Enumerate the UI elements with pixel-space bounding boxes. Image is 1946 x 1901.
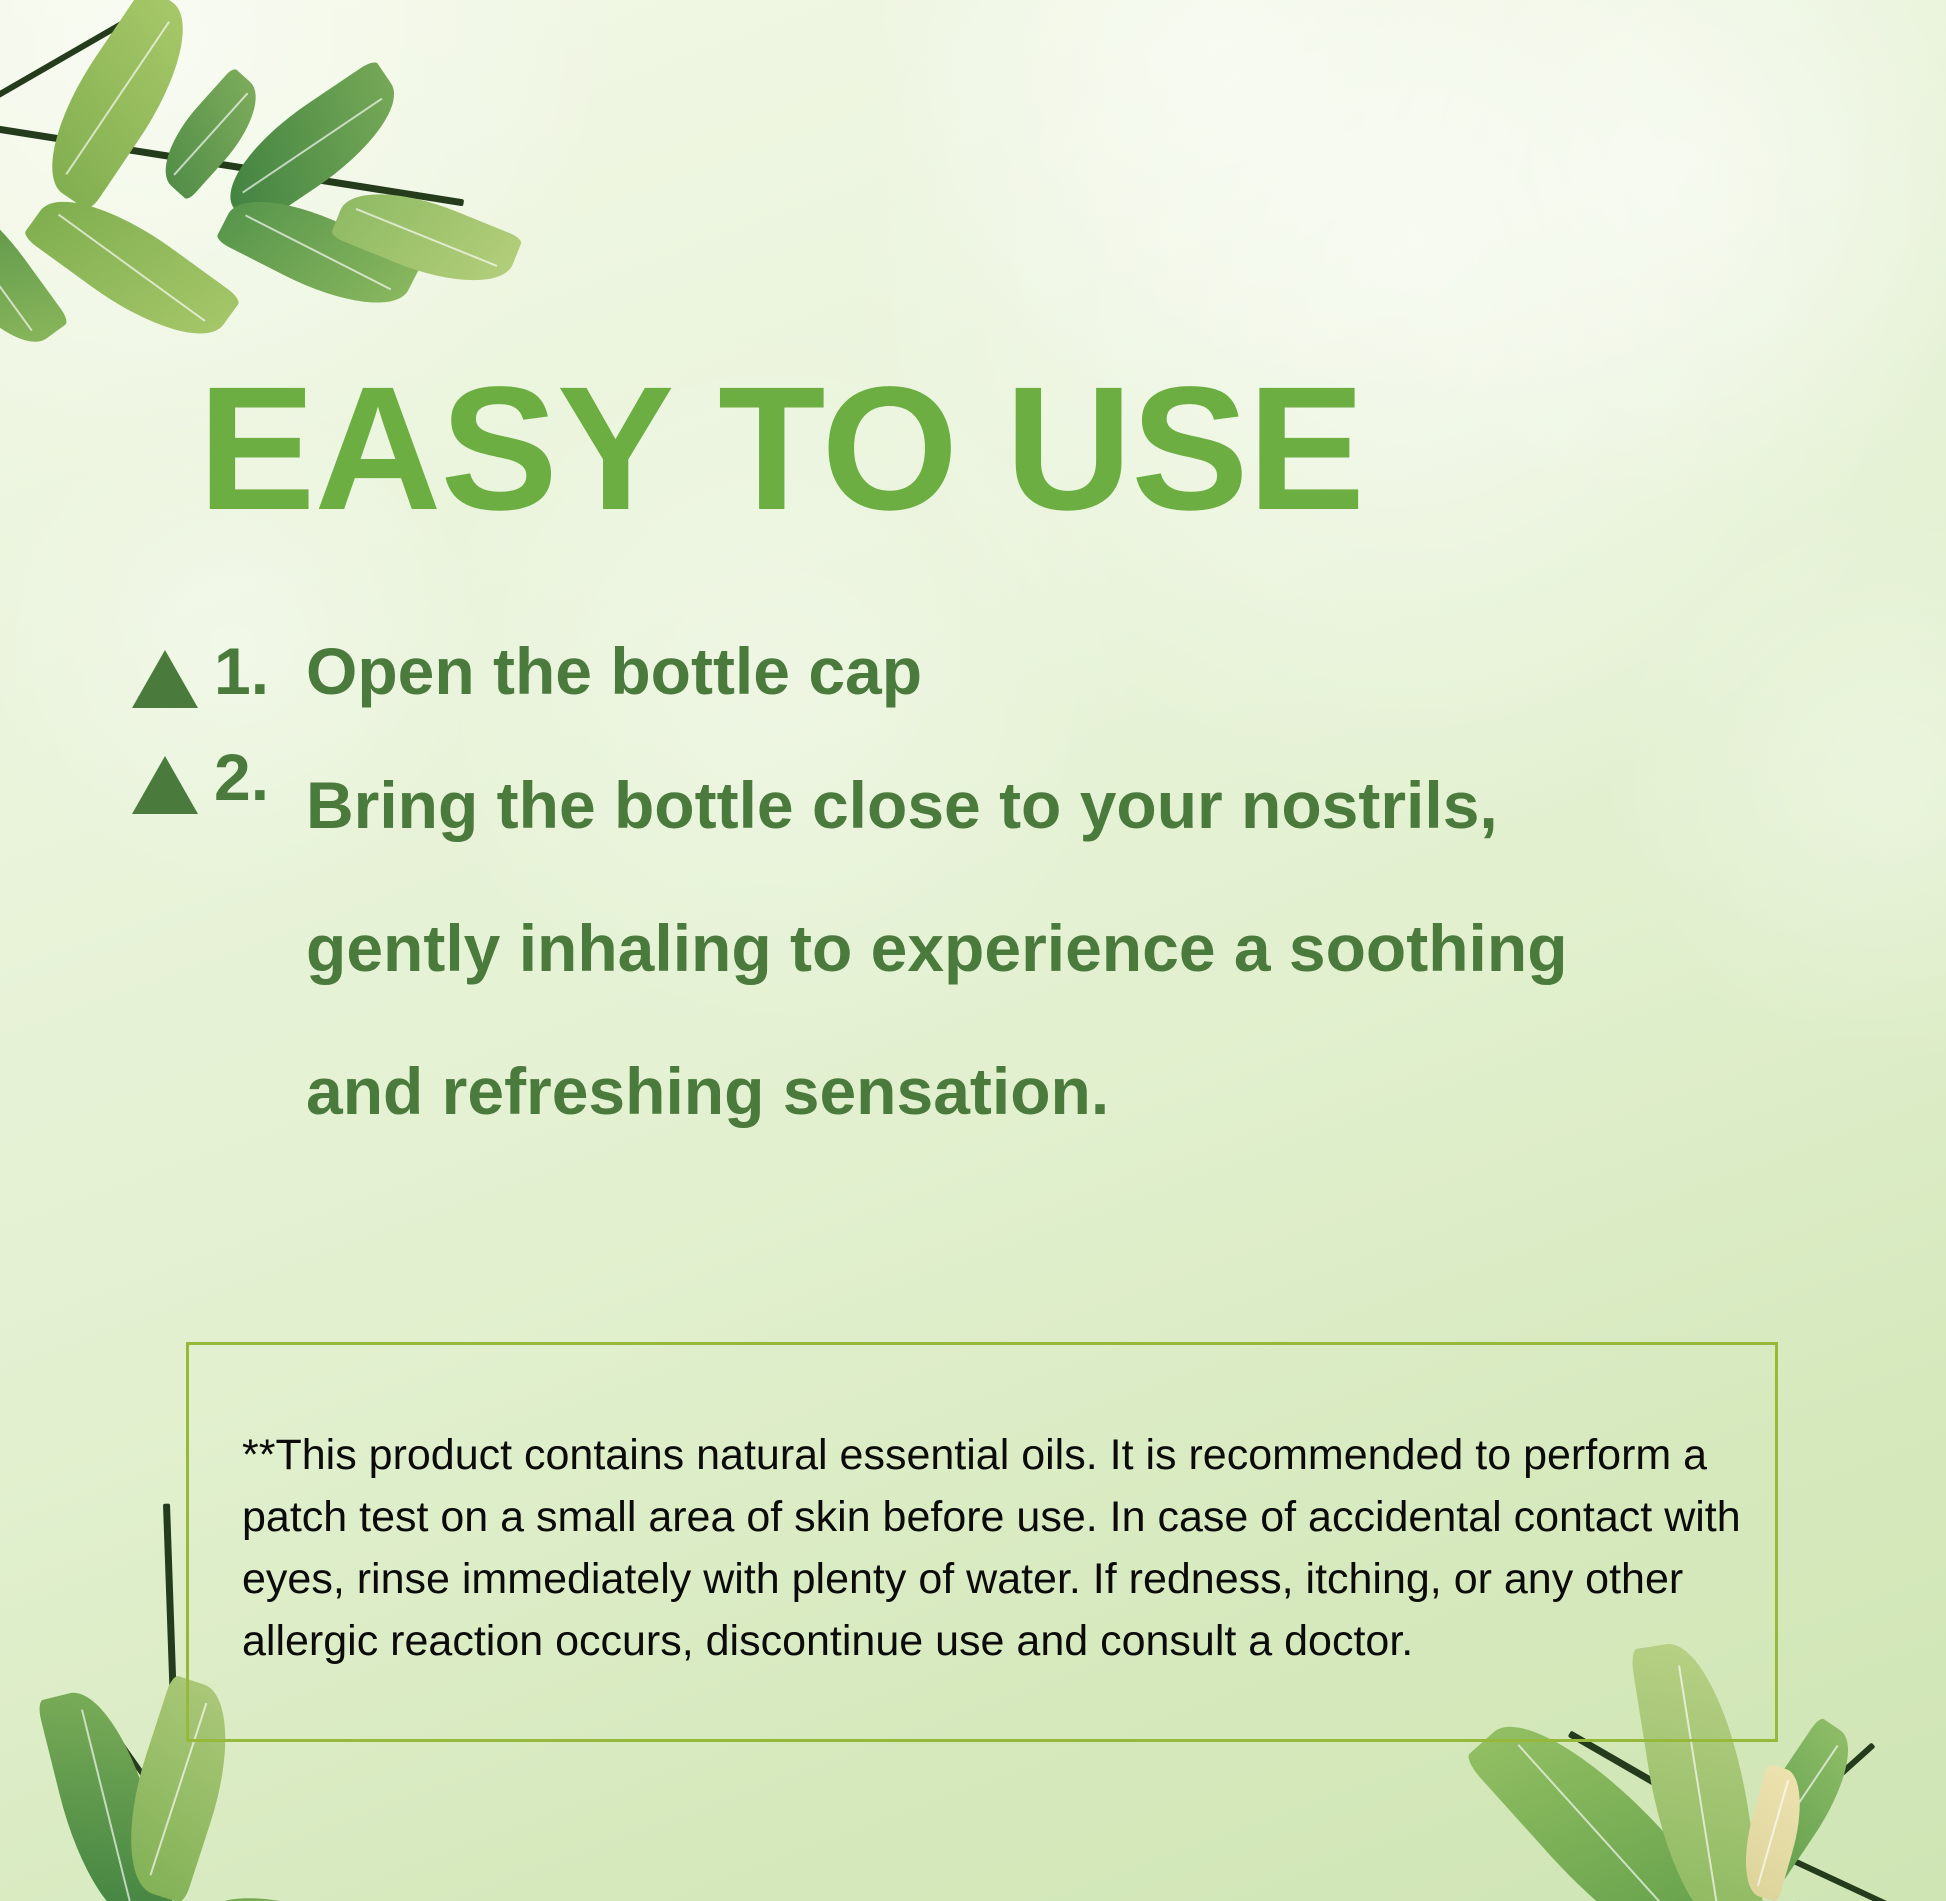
- step-number: 1.: [214, 628, 306, 714]
- triangle-bullet-icon: [132, 756, 198, 814]
- list-item: 2. Bring the bottle close to your nostri…: [132, 734, 1832, 1163]
- page-title: EASY TO USE: [198, 361, 1364, 537]
- list-item: 1. Open the bottle cap: [132, 628, 1832, 714]
- step-number: 2.: [214, 734, 306, 820]
- triangle-bullet-icon: [132, 650, 198, 708]
- leaf-branch-icon: [0, 0, 580, 300]
- disclaimer-text: **This product contains natural essentia…: [242, 1424, 1742, 1672]
- steps-list: 1. Open the bottle cap 2. Bring the bott…: [132, 628, 1832, 1183]
- poster-canvas: EASY TO USE 1. Open the bottle cap 2. Br…: [0, 0, 1946, 1901]
- step-text: Open the bottle cap: [306, 628, 922, 714]
- step-text: Bring the bottle close to your nostrils,…: [306, 734, 1616, 1163]
